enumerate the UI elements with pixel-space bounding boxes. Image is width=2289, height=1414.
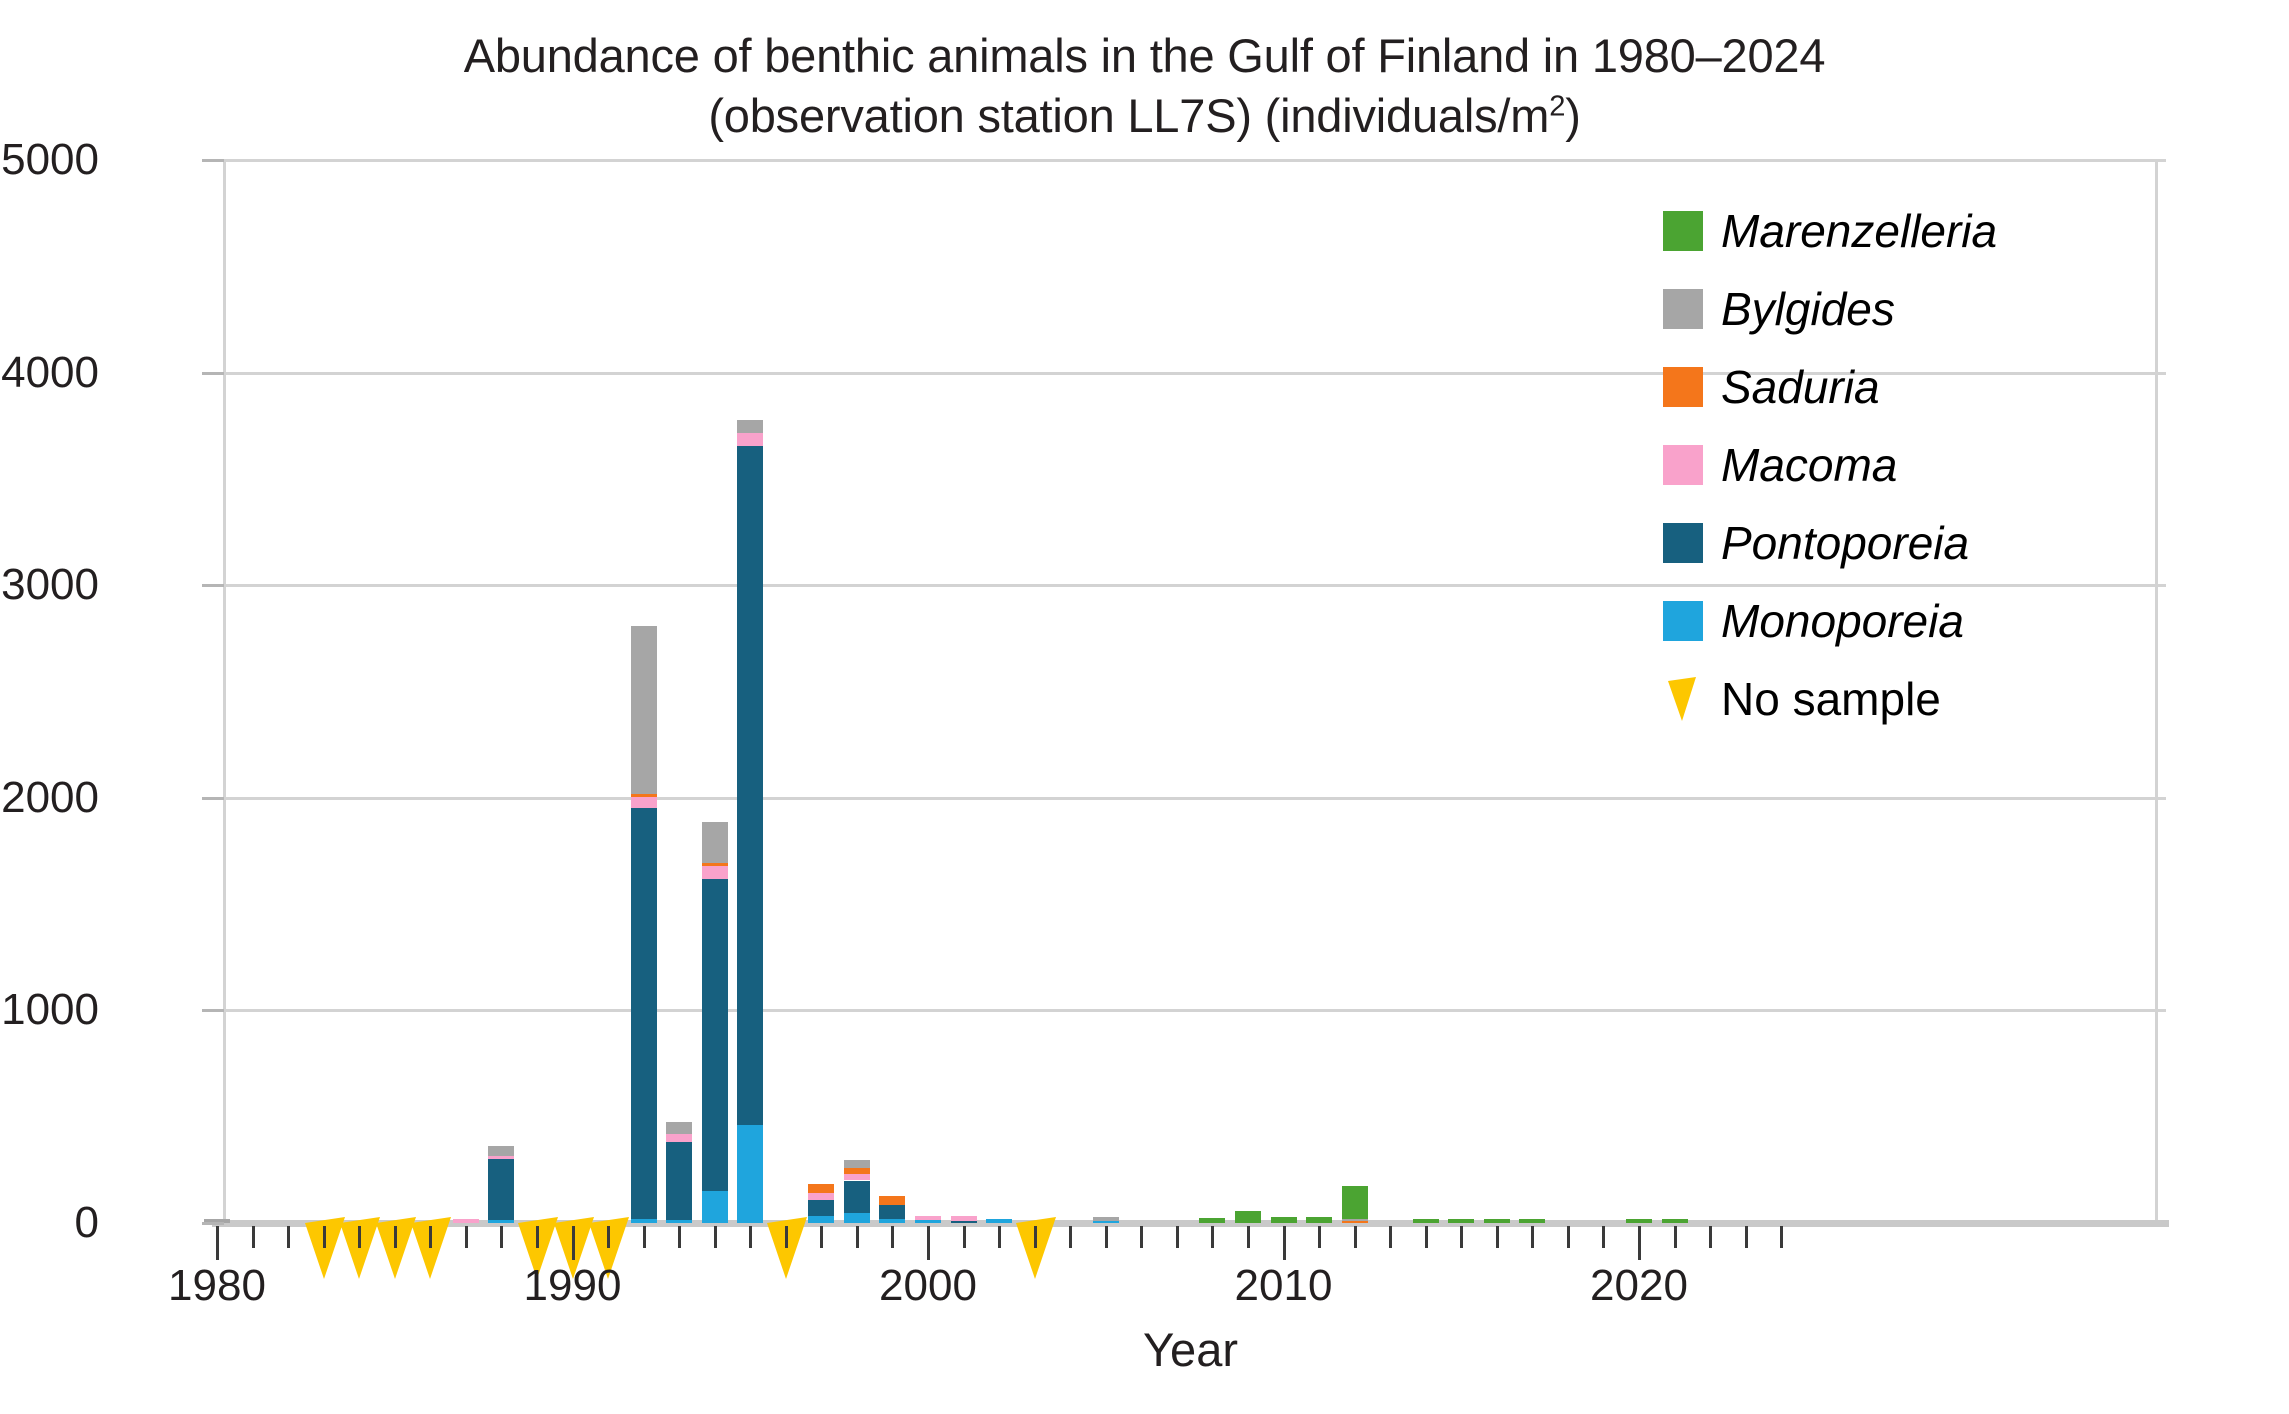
- y-tick-label: 0: [0, 1201, 99, 1245]
- x-tick-minor: [394, 1226, 397, 1248]
- y-tick-mark: [202, 1009, 224, 1012]
- bar-stack-1999[interactable]: [879, 1196, 905, 1223]
- bar-segment-macoma: [453, 1219, 479, 1223]
- bar-segment-marenzelleria: [1413, 1219, 1439, 1223]
- bar-segment-pontoporeia: [844, 1181, 870, 1214]
- bar-segment-marenzelleria: [1448, 1219, 1474, 1223]
- bar-segment-pontoporeia: [631, 808, 657, 1218]
- x-tick-label: 2010: [1184, 1262, 1384, 1310]
- y-tick-label: 4000: [0, 351, 99, 395]
- legend-swatch-triangle: [1663, 679, 1703, 719]
- bar-segment-marenzelleria: [1662, 1219, 1688, 1223]
- x-tick-minor: [429, 1226, 432, 1248]
- bar-stack-2002[interactable]: [986, 1219, 1012, 1223]
- legend-swatch-bylgides: [1663, 289, 1703, 329]
- bar-segment-marenzelleria: [1306, 1217, 1332, 1223]
- y-tick-mark: [202, 797, 224, 800]
- x-tick-major: [1283, 1226, 1286, 1260]
- bar-segment-marenzelleria: [1484, 1219, 1510, 1223]
- bar-segment-monoporeia: [737, 1125, 763, 1223]
- x-tick-minor: [856, 1226, 859, 1248]
- x-tick-minor: [1567, 1226, 1570, 1248]
- x-tick-minor: [643, 1226, 646, 1248]
- chart-title-line2-close: ): [1565, 89, 1580, 142]
- x-tick-minor: [252, 1226, 255, 1248]
- x-tick-minor: [1140, 1226, 1143, 1248]
- bar-stack-2017[interactable]: [1519, 1219, 1545, 1223]
- y-tick-label: 1000: [0, 988, 99, 1032]
- bar-segment-pontoporeia: [702, 879, 728, 1192]
- legend-item-no-sample[interactable]: No sample: [1663, 660, 2133, 738]
- y-tick-mark: [202, 1222, 224, 1225]
- x-tick-minor: [1496, 1226, 1499, 1248]
- bar-segment-saduria: [844, 1168, 870, 1174]
- legend-swatch-monoporeia: [1663, 601, 1703, 641]
- bar-segment-monoporeia: [808, 1216, 834, 1223]
- bar-stack-1997[interactable]: [808, 1184, 834, 1223]
- bar-segment-bylgides: [737, 420, 763, 433]
- x-tick-label: 2020: [1539, 1262, 1739, 1310]
- legend-item-marenzelleria[interactable]: Marenzelleria: [1663, 192, 2133, 270]
- bar-stack-1994[interactable]: [702, 822, 728, 1223]
- bar-segment-macoma: [808, 1193, 834, 1199]
- bar-segment-bylgides: [488, 1146, 514, 1156]
- legend-swatch-marenzelleria: [1663, 211, 1703, 251]
- no-sample-triangle-icon: [1667, 677, 1697, 721]
- bar-segment-monoporeia: [631, 1219, 657, 1223]
- x-tick-minor: [323, 1226, 326, 1248]
- y-tick-label: 2000: [0, 776, 99, 820]
- bar-stack-2000[interactable]: [915, 1217, 941, 1223]
- x-tick-minor: [1247, 1226, 1250, 1248]
- x-tick-minor: [714, 1226, 717, 1248]
- bar-segment-bylgides: [702, 822, 728, 863]
- legend-label: Saduria: [1721, 362, 1880, 412]
- x-tick-minor: [1602, 1226, 1605, 1248]
- bar-segment-saduria: [808, 1184, 834, 1194]
- legend-swatch-macoma: [1663, 445, 1703, 485]
- bar-segment-macoma: [844, 1174, 870, 1180]
- bar-stack-1992[interactable]: [631, 626, 657, 1223]
- bar-stack-1993[interactable]: [666, 1122, 692, 1223]
- legend-label: Macoma: [1721, 440, 1897, 490]
- legend-swatch-pontoporeia: [1663, 523, 1703, 563]
- bar-segment-bylgides: [844, 1160, 870, 1167]
- bar-stack-1988[interactable]: [488, 1146, 514, 1223]
- bar-segment-pontoporeia: [737, 446, 763, 1125]
- bar-stack-2012[interactable]: [1342, 1186, 1368, 1223]
- x-tick-minor: [785, 1226, 788, 1248]
- x-tick-label: 1980: [117, 1262, 317, 1310]
- x-tick-major: [216, 1226, 219, 1260]
- x-tick-minor: [465, 1226, 468, 1248]
- x-tick-major: [1638, 1226, 1641, 1260]
- legend-label: No sample: [1721, 674, 1941, 724]
- legend-label: Pontoporeia: [1721, 518, 1969, 568]
- bar-stack-2001[interactable]: [951, 1216, 977, 1223]
- bar-segment-macoma: [951, 1216, 977, 1221]
- chart-title-line1: Abundance of benthic animals in the Gulf…: [0, 26, 2289, 86]
- legend-swatch-saduria: [1663, 367, 1703, 407]
- y-tick-label: 5000: [0, 138, 99, 182]
- bar-stack-2010[interactable]: [1271, 1217, 1297, 1223]
- x-tick-label: 2000: [828, 1262, 1028, 1310]
- y-gridline: [215, 159, 2166, 162]
- x-tick-minor: [1176, 1226, 1179, 1248]
- bar-segment-pontoporeia: [879, 1205, 905, 1219]
- x-tick-minor: [1211, 1226, 1214, 1248]
- bar-segment-macoma: [915, 1216, 941, 1220]
- bar-segment-marenzelleria: [1271, 1217, 1297, 1223]
- x-tick-minor: [963, 1226, 966, 1248]
- x-tick-minor: [1069, 1226, 1072, 1248]
- x-tick-minor: [891, 1226, 894, 1248]
- bar-segment-pontoporeia: [666, 1142, 692, 1220]
- x-tick-minor: [1780, 1226, 1783, 1248]
- y-tick-mark: [202, 584, 224, 587]
- plot-border-right: [2155, 160, 2158, 1223]
- y-gridline: [215, 1009, 2166, 1012]
- bar-stack-2020[interactable]: [1626, 1219, 1652, 1223]
- legend-item-macoma[interactable]: Macoma: [1663, 426, 2133, 504]
- x-tick-minor: [1318, 1226, 1321, 1248]
- bar-segment-marenzelleria: [1342, 1186, 1368, 1219]
- bar-segment-marenzelleria: [1626, 1219, 1652, 1223]
- x-tick-major: [927, 1226, 930, 1260]
- bar-segment-macoma: [631, 797, 657, 809]
- bar-segment-bylgides: [631, 626, 657, 794]
- bar-segment-marenzelleria: [1199, 1218, 1225, 1223]
- x-tick-minor: [1425, 1226, 1428, 1248]
- legend-item-monoporeia[interactable]: Monoporeia: [1663, 582, 2133, 660]
- bar-stack-1998[interactable]: [844, 1160, 870, 1223]
- bar-segment-bylgides: [666, 1122, 692, 1134]
- chart-root: Abundance of benthic animals in the Gulf…: [0, 0, 2289, 1414]
- legend-label: Bylgides: [1721, 284, 1895, 334]
- x-tick-minor: [287, 1226, 290, 1248]
- bar-segment-monoporeia: [702, 1191, 728, 1223]
- chart-title-line2: (observation station LL7S) (individuals/…: [0, 86, 2289, 146]
- legend-label: Marenzelleria: [1721, 206, 1997, 256]
- legend-item-bylgides[interactable]: Bylgides: [1663, 270, 2133, 348]
- bar-stack-1995[interactable]: [737, 420, 763, 1223]
- x-tick-minor: [998, 1226, 1001, 1248]
- y-tick-label: 3000: [0, 563, 99, 607]
- bar-segment-monoporeia: [986, 1219, 1012, 1223]
- x-tick-minor: [1105, 1226, 1108, 1248]
- bar-stack-2011[interactable]: [1306, 1217, 1332, 1223]
- x-tick-minor: [1745, 1226, 1748, 1248]
- bar-segment-macoma: [666, 1134, 692, 1143]
- y-tick-mark: [202, 372, 224, 375]
- chart-legend: MarenzelleriaBylgidesSaduriaMacomaPontop…: [1663, 192, 2133, 738]
- bar-segment-pontoporeia: [488, 1159, 514, 1220]
- x-tick-minor: [820, 1226, 823, 1248]
- x-tick-minor: [1034, 1226, 1037, 1248]
- x-tick-minor: [1460, 1226, 1463, 1248]
- y-tick-mark: [202, 159, 224, 162]
- bar-segment-pontoporeia: [808, 1200, 834, 1216]
- x-tick-minor: [1674, 1226, 1677, 1248]
- x-tick-minor: [1354, 1226, 1357, 1248]
- chart-title-line2-text: (observation station LL7S) (individuals/…: [708, 89, 1549, 142]
- legend-item-pontoporeia[interactable]: Pontoporeia: [1663, 504, 2133, 582]
- bar-segment-marenzelleria: [1519, 1219, 1545, 1223]
- x-tick-minor: [358, 1226, 361, 1248]
- bar-stack-2021[interactable]: [1662, 1219, 1688, 1223]
- x-tick-minor: [749, 1226, 752, 1248]
- bar-segment-monoporeia: [844, 1213, 870, 1223]
- chart-title-superscript: 2: [1549, 90, 1565, 122]
- x-axis-title: Year: [224, 1322, 2157, 1377]
- bar-stack-2014[interactable]: [1413, 1219, 1439, 1223]
- bar-segment-macoma: [702, 866, 728, 879]
- bar-stack-2009[interactable]: [1235, 1211, 1261, 1223]
- x-tick-major: [572, 1226, 575, 1260]
- x-tick-minor: [678, 1226, 681, 1248]
- bar-segment-macoma: [737, 433, 763, 446]
- y-gridline: [215, 797, 2166, 800]
- x-tick-minor: [607, 1226, 610, 1248]
- plot-border-left: [223, 160, 226, 1223]
- x-tick-minor: [1531, 1226, 1534, 1248]
- x-tick-minor: [500, 1226, 503, 1248]
- bar-stack-1987[interactable]: [453, 1219, 479, 1223]
- bar-stack-2015[interactable]: [1448, 1219, 1474, 1223]
- legend-label: Monoporeia: [1721, 596, 1964, 646]
- x-tick-label: 1990: [473, 1262, 673, 1310]
- legend-item-saduria[interactable]: Saduria: [1663, 348, 2133, 426]
- x-tick-minor: [1709, 1226, 1712, 1248]
- bar-segment-saduria: [879, 1196, 905, 1205]
- bar-stack-2005[interactable]: [1093, 1217, 1119, 1223]
- x-tick-minor: [1389, 1226, 1392, 1248]
- bar-segment-marenzelleria: [1235, 1211, 1261, 1223]
- chart-title: Abundance of benthic animals in the Gulf…: [0, 26, 2289, 146]
- bar-stack-2016[interactable]: [1484, 1219, 1510, 1223]
- x-tick-minor: [536, 1226, 539, 1248]
- bar-segment-bylgides: [1093, 1217, 1119, 1222]
- bar-stack-2008[interactable]: [1199, 1218, 1225, 1223]
- bar-segment-monoporeia: [879, 1219, 905, 1223]
